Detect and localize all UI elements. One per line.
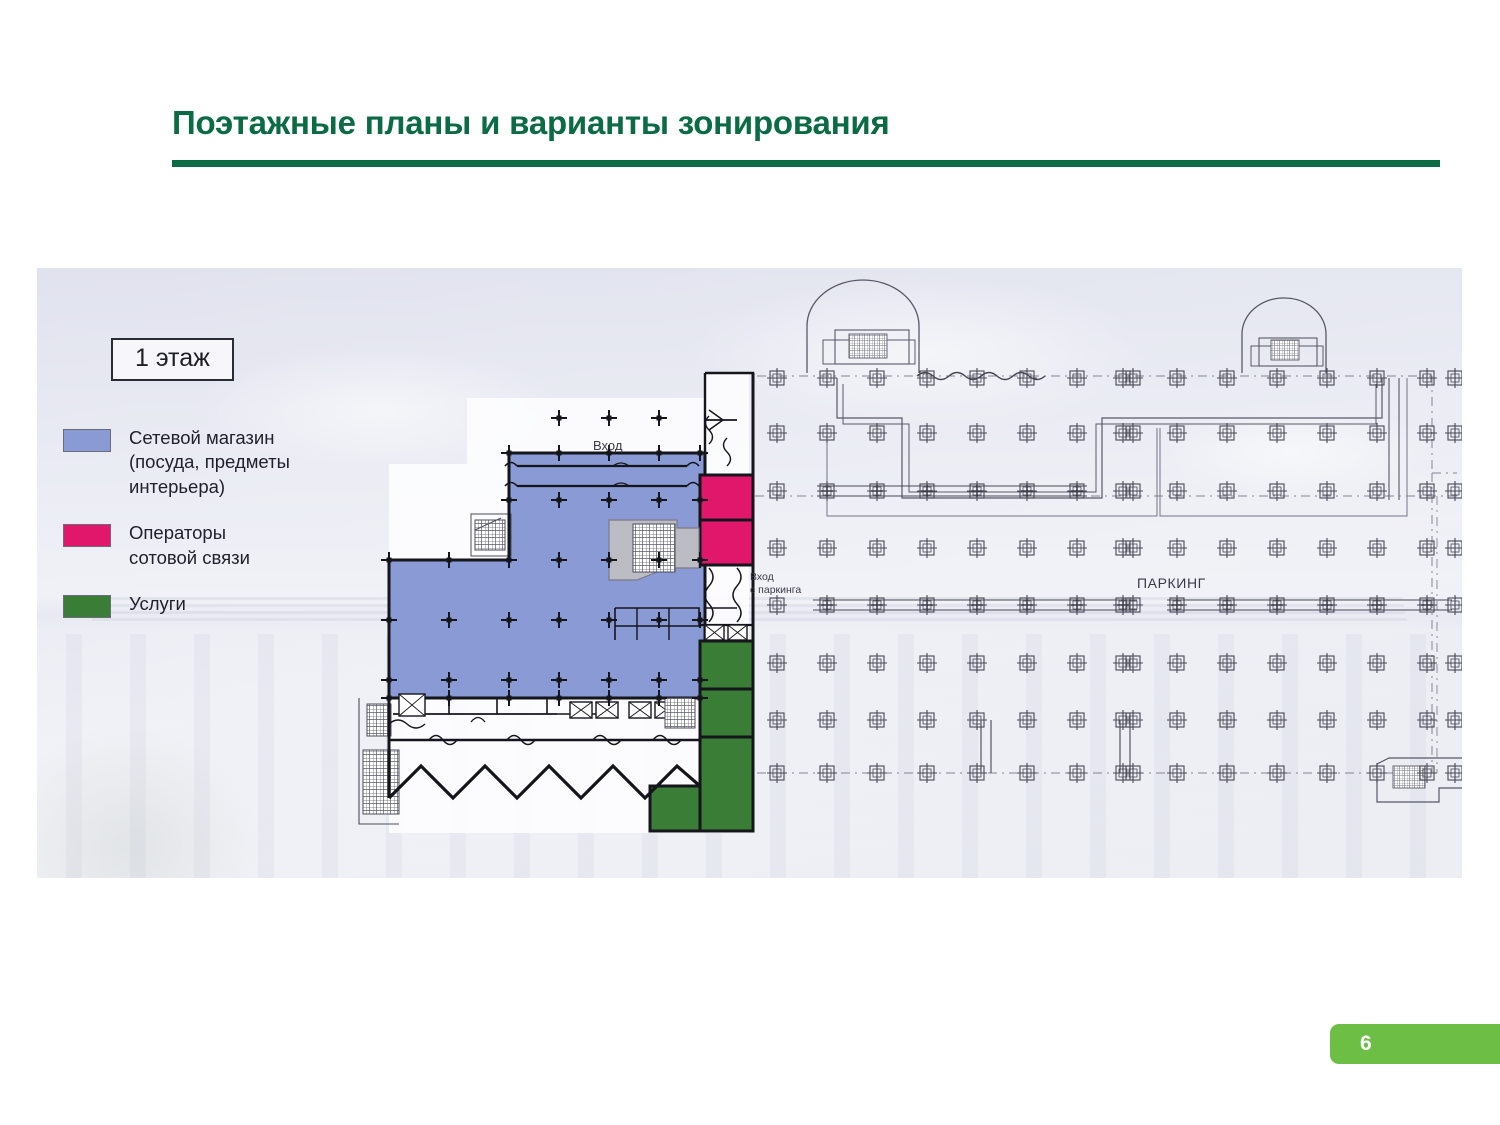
title-underline xyxy=(172,160,1440,167)
legend-swatch-retail xyxy=(63,429,111,452)
floor-plan-image: Вход Вход с паркинга ПАРКИНГ 1 этаж Сете… xyxy=(37,268,1462,878)
legend-swatch-services xyxy=(63,595,111,618)
plan-legend: Сетевой магазин (посуда, предметы интерь… xyxy=(63,426,353,640)
legend-item: Операторы сотовой связи xyxy=(63,521,353,570)
page-title: Поэтажные планы и варианты зонирования xyxy=(172,104,890,142)
floor-number-label: 1 этаж xyxy=(111,338,234,381)
legend-item: Услуги xyxy=(63,592,353,618)
parking-label: ПАРКИНГ xyxy=(1137,575,1206,591)
legend-label-services: Услуги xyxy=(129,592,186,616)
legend-item: Сетевой магазин (посуда, предметы интерь… xyxy=(63,426,353,499)
legend-swatch-telecom xyxy=(63,524,111,547)
legend-label-retail: Сетевой магазин (посуда, предметы интерь… xyxy=(129,426,290,499)
page-number-badge: 6 xyxy=(1330,1024,1500,1064)
entrance-label: Вход xyxy=(593,438,622,453)
legend-label-telecom: Операторы сотовой связи xyxy=(129,521,250,570)
entrance-from-parking-label: Вход с паркинга xyxy=(750,571,801,597)
